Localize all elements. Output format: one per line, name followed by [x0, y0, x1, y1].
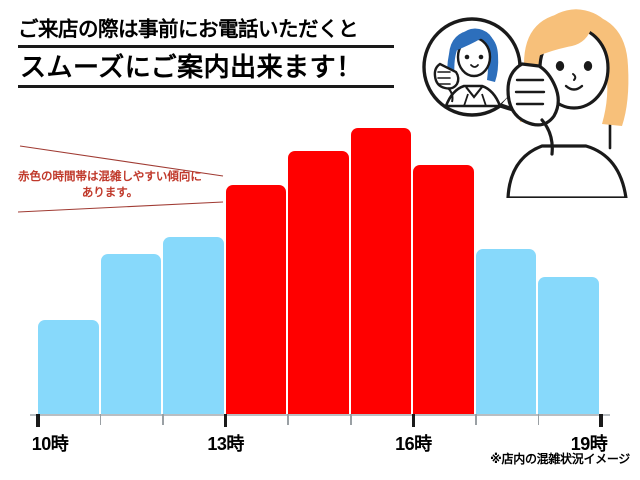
chart-bar: [413, 165, 474, 415]
axis-tick-minor: [475, 414, 477, 425]
chart-bar: [538, 277, 599, 415]
chart-bar: [288, 151, 349, 415]
annotation-line-2: あります。: [10, 186, 210, 202]
annotation-text: 赤色の時間帯は混雑しやすい傾向に あります。: [10, 170, 210, 201]
axis-tick-minor: [350, 414, 352, 425]
axis-tick-major: [36, 414, 40, 427]
chart-bar: [163, 237, 224, 415]
axis-tick-label: 10時: [32, 430, 69, 456]
axis-tick-label: 13時: [207, 430, 244, 456]
chart-footnote: ※店内の混雑状況イメージ: [490, 450, 630, 467]
axis-tick-major: [224, 414, 228, 427]
chart-bar: [351, 128, 412, 415]
axis-tick-minor: [100, 414, 102, 425]
axis-tick-major: [599, 414, 603, 427]
chart-bar: [101, 254, 162, 415]
chart-bar: [38, 320, 99, 415]
customer-figure-icon: [508, 10, 628, 198]
woman-on-phone-illustration: [404, 2, 640, 198]
axis-tick-label: 16時: [395, 430, 432, 456]
chart-x-axis-line: [30, 414, 610, 416]
chart-bar: [476, 249, 537, 415]
axis-tick-minor: [538, 414, 540, 425]
axis-tick-minor: [162, 414, 164, 425]
axis-tick-minor: [287, 414, 289, 425]
axis-tick-major: [412, 414, 416, 427]
annotation-line-1: 赤色の時間帯は混雑しやすい傾向に: [10, 170, 210, 186]
chart-bar: [226, 185, 287, 415]
